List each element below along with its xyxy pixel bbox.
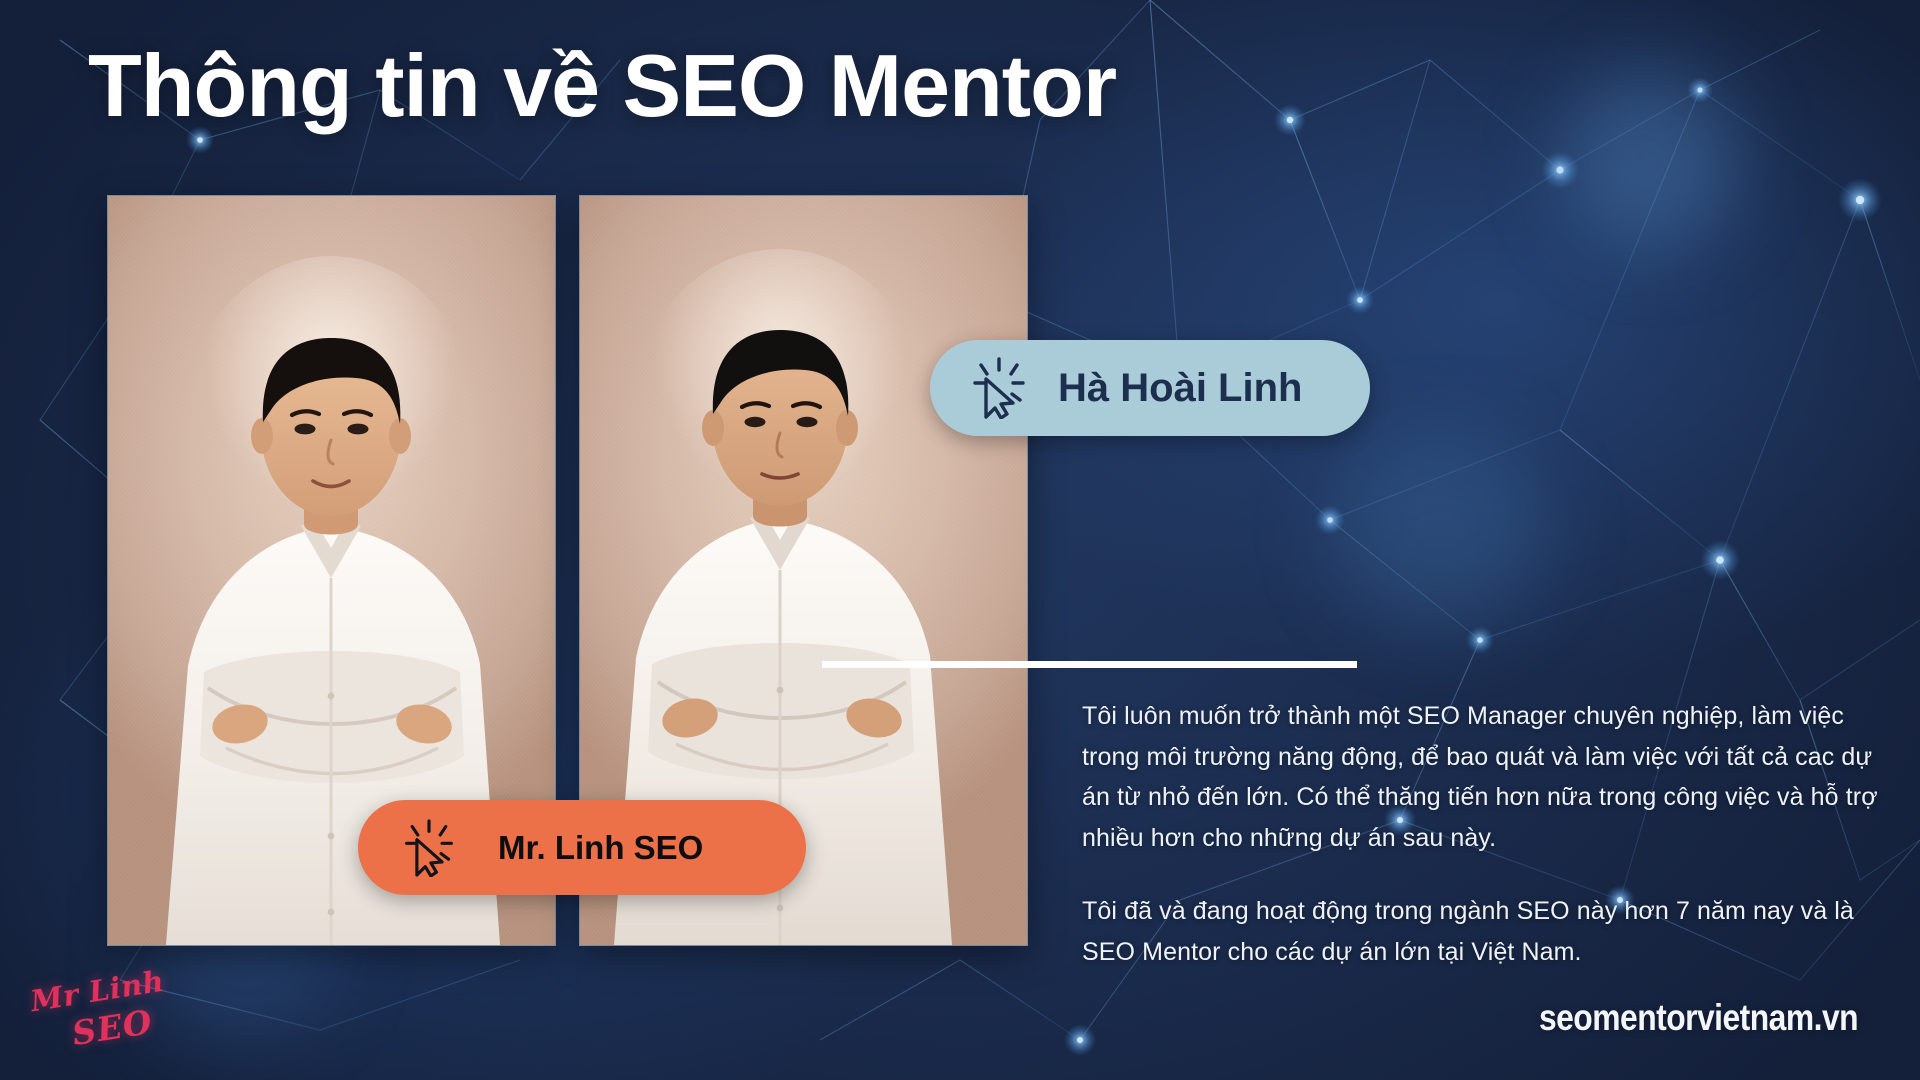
bio-paragraph-2: Tôi đã và đang hoạt động trong ngành SEO… [1082, 891, 1882, 972]
cursor-click-icon [402, 819, 456, 877]
cursor-click-icon [970, 357, 1028, 419]
slide-root: Thông tin về SEO Mentor [0, 0, 1920, 1080]
brand-logo[interactable]: Mr Linh SEO [30, 972, 175, 1058]
name-badge-mr-linh-seo[interactable]: Mr. Linh SEO [358, 800, 806, 895]
bio-text-block: Tôi luôn muốn trở thành một SEO Manager … [1082, 696, 1882, 972]
page-title: Thông tin về SEO Mentor [88, 38, 1116, 133]
section-divider [822, 661, 1357, 668]
bio-paragraph-1: Tôi luôn muốn trở thành một SEO Manager … [1082, 696, 1882, 858]
site-url[interactable]: seomentorvietnam.vn [1539, 997, 1858, 1039]
badge-label: Hà Hoài Linh [1058, 366, 1302, 411]
badge-label: Mr. Linh SEO [498, 829, 703, 867]
name-badge-ha-hoai-linh[interactable]: Hà Hoài Linh [930, 340, 1370, 436]
